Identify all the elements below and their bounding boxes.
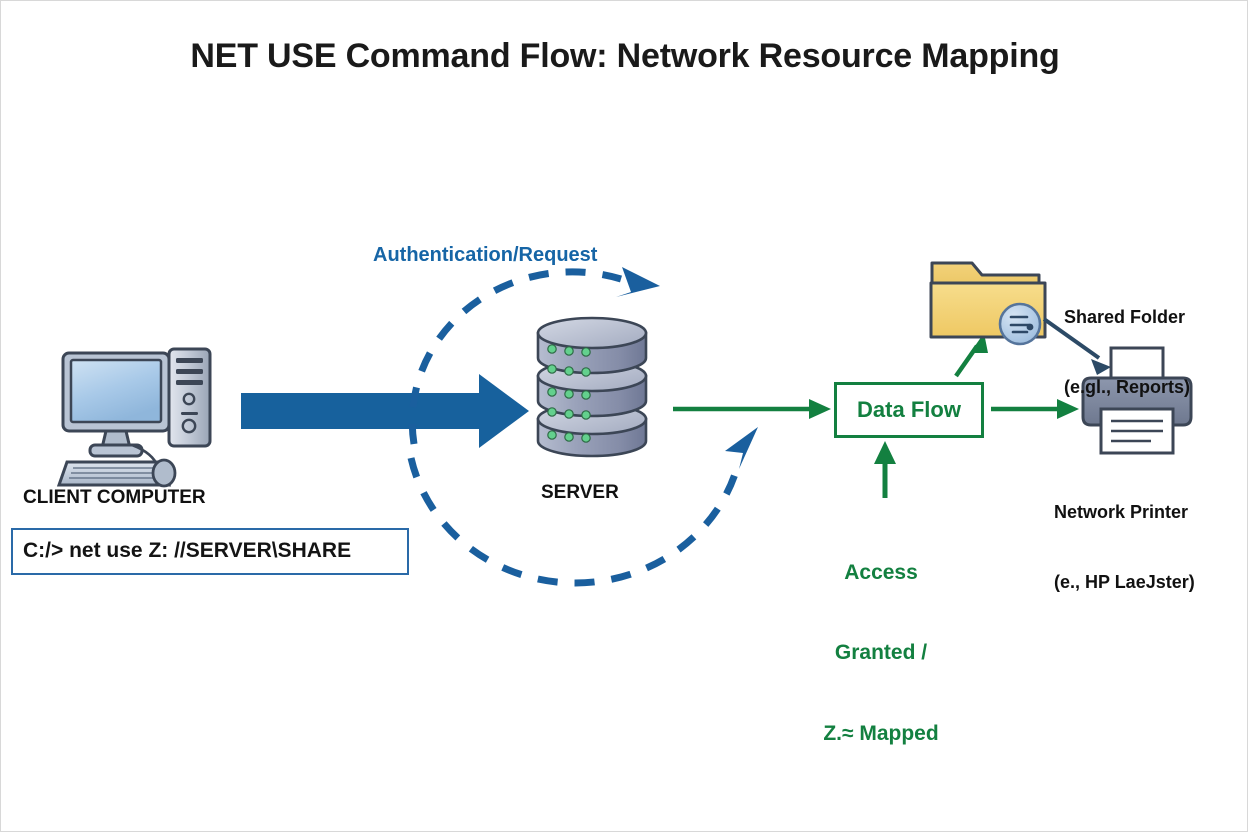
network-printer-label-line-1: Network Printer (1054, 501, 1195, 524)
server-to-dataflow-arrow (673, 399, 831, 419)
access-note-line-3: Z.≈ Mapped (781, 721, 981, 748)
share-badge-icon (1000, 304, 1040, 344)
shared-folder-label-line-2: (e.gl., Reports) (1064, 376, 1190, 399)
auth-loop-arrowhead-top (616, 267, 660, 297)
network-printer-label: Network Printer (e., HP LaeJster) (1054, 454, 1195, 641)
diagram-graphics-layer (1, 1, 1248, 832)
page-title: NET USE Command Flow: Network Resource M… (1, 37, 1248, 76)
client-computer-label: CLIENT COMPUTER (23, 487, 206, 509)
auth-loop-arrowhead-bottom (725, 427, 758, 469)
access-granted-note: Access Granted / Z.≈ Mapped (781, 506, 981, 802)
authentication-request-label: Authentication/Request (373, 244, 597, 267)
access-granted-arrow (874, 441, 896, 498)
access-note-line-1: Access (781, 560, 981, 587)
shared-folder-icon (931, 263, 1045, 344)
dataflow-to-folder-arrow (956, 333, 988, 376)
database-server-icon (538, 318, 646, 456)
net-use-command-text: C:/> net use Z: //SERVER\SHARE (23, 539, 351, 563)
desktop-computer-icon (59, 349, 210, 486)
access-note-line-2: Granted / (781, 640, 981, 667)
shared-folder-label-line-1: Shared Folder (1064, 306, 1190, 329)
data-flow-label: Data Flow (834, 397, 984, 422)
shared-folder-label: Shared Folder (e.gl., Reports) (1064, 259, 1190, 446)
diagram-canvas: NET USE Command Flow: Network Resource M… (0, 0, 1248, 832)
server-label: SERVER (541, 482, 619, 504)
network-printer-label-line-2: (e., HP LaeJster) (1054, 571, 1195, 594)
client-to-server-arrow (241, 374, 529, 448)
